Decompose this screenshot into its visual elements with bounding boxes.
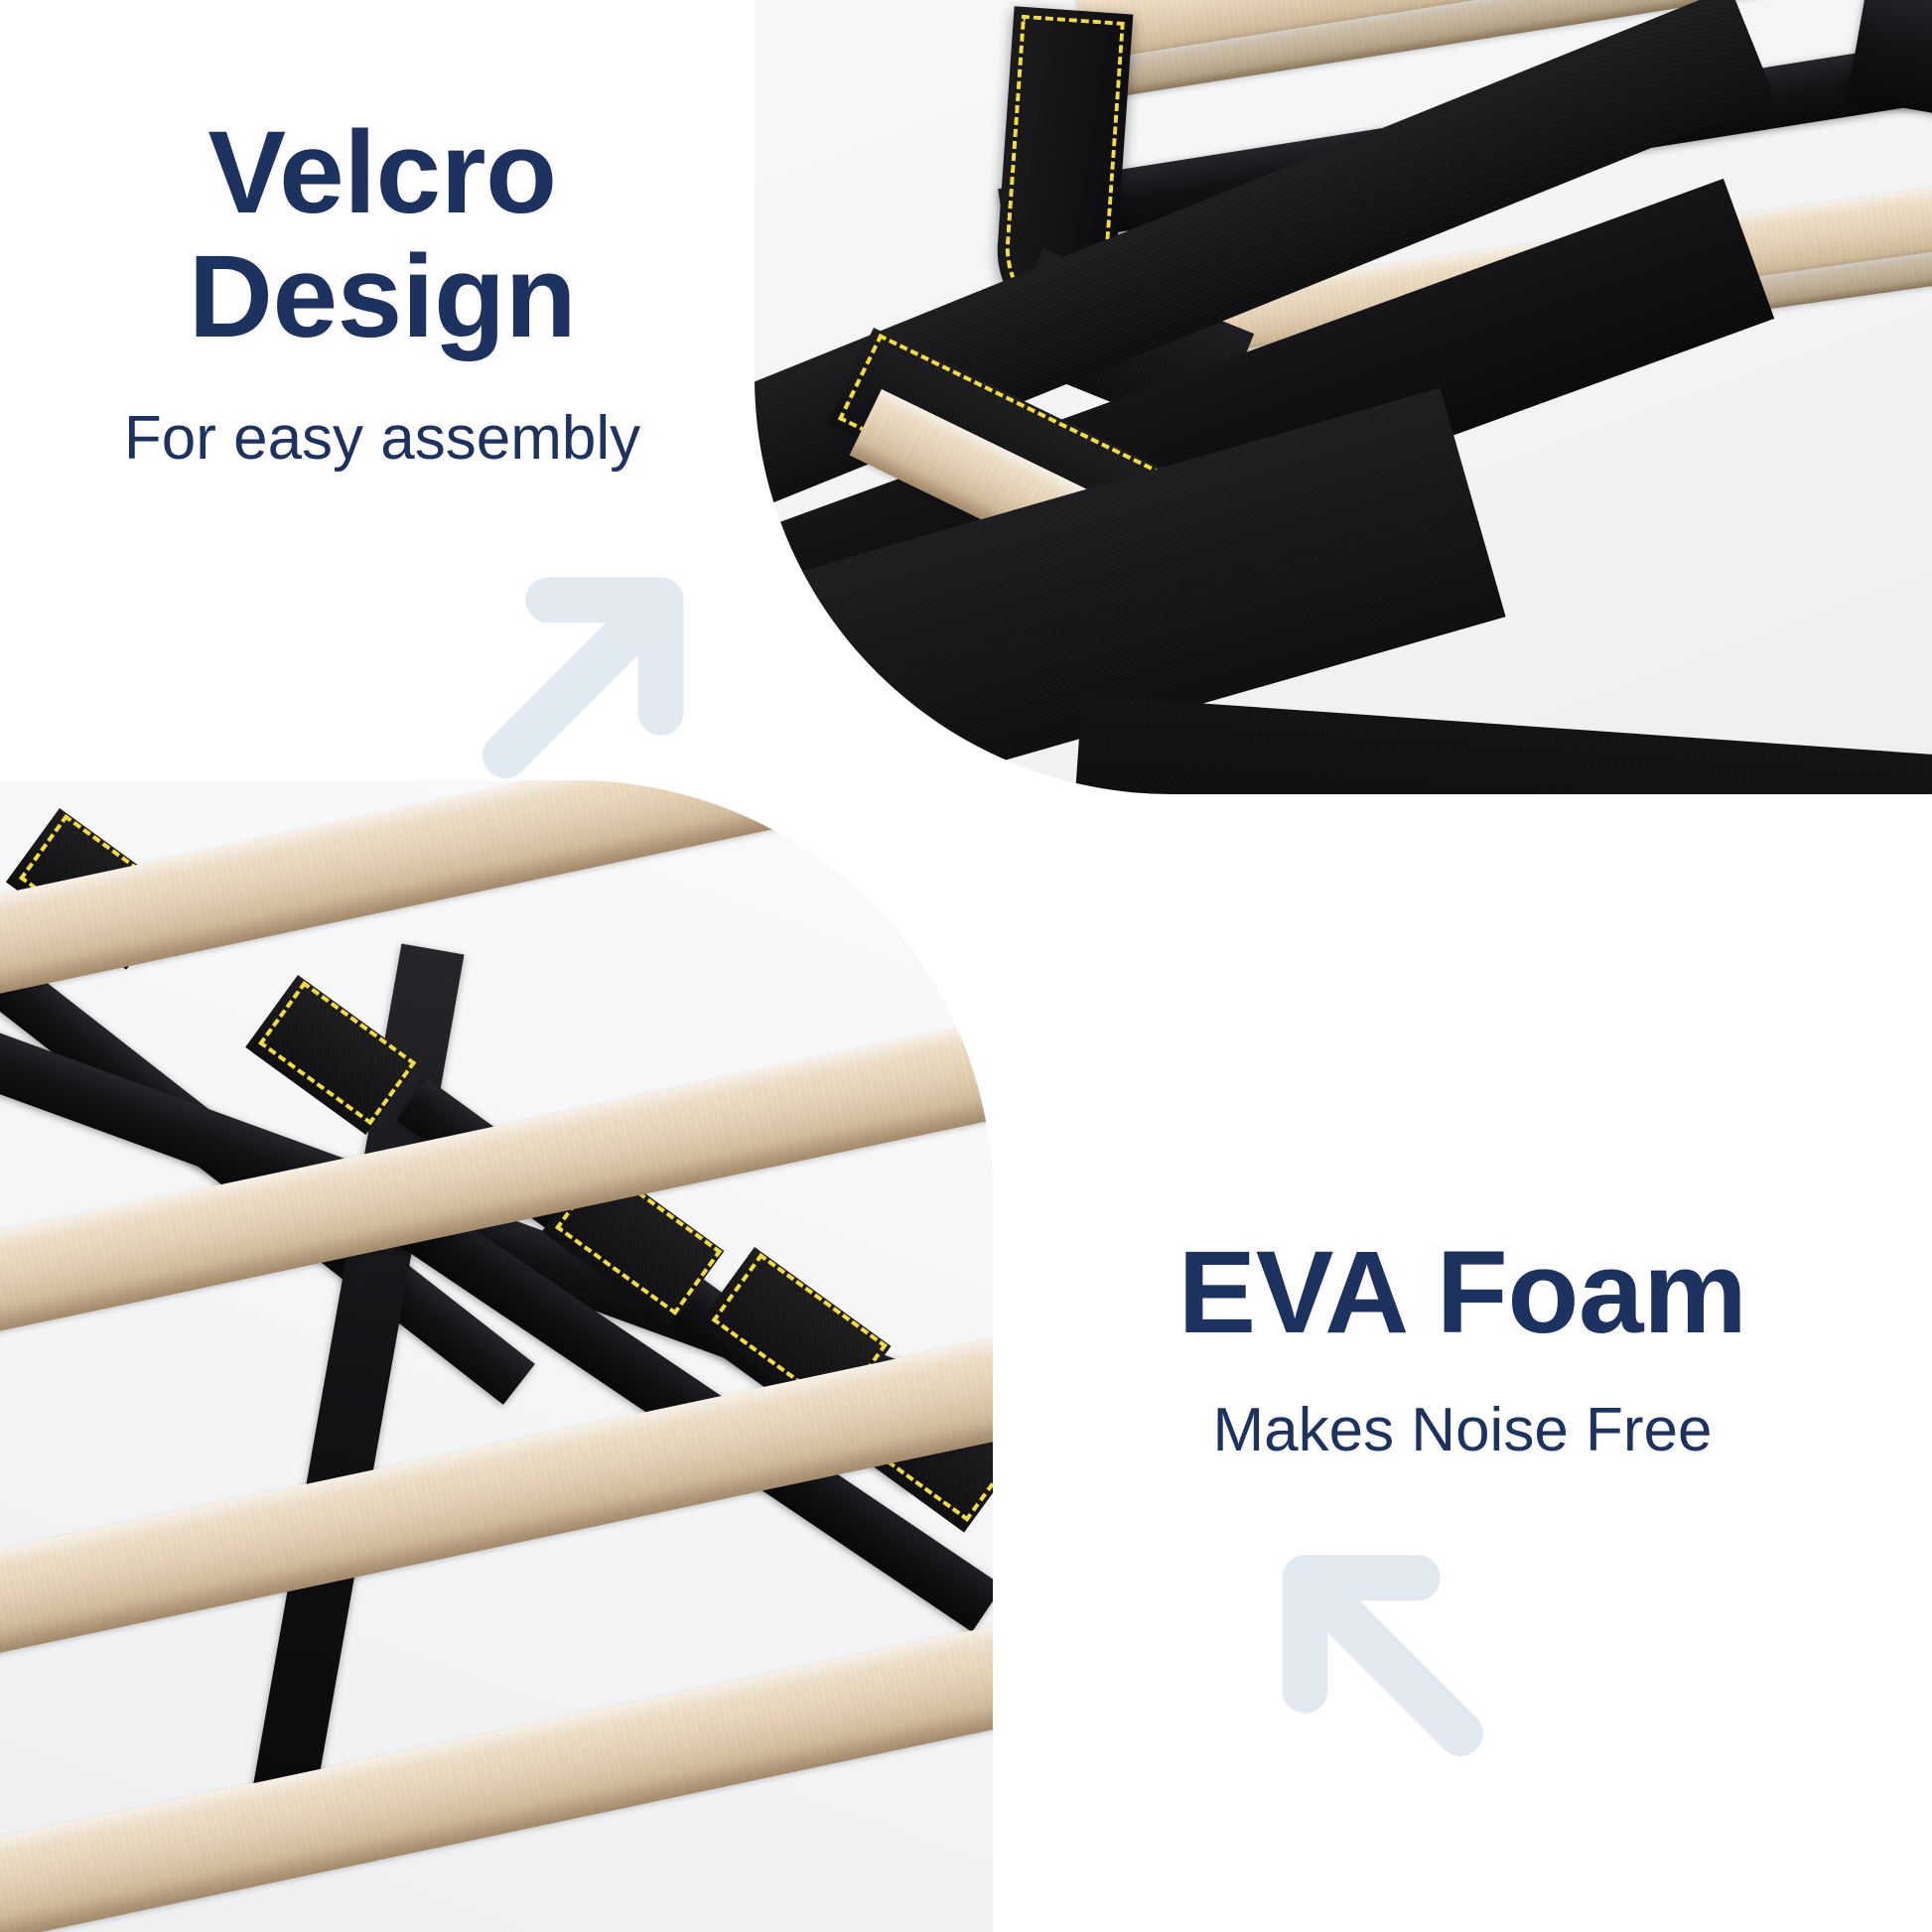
infographic-canvas: Velcro Design For easy assembly EVA Foam… [0, 0, 1932, 1932]
eva-foam-headline: EVA Foam [993, 1231, 1932, 1355]
velcro-headline-line1: Velcro [0, 111, 764, 235]
arrow-up-right-icon [452, 541, 720, 809]
eva-foam-subline: Makes Noise Free [993, 1395, 1932, 1465]
velcro-photo-panel [755, 0, 1932, 794]
velcro-subline: For easy assembly [0, 403, 764, 474]
eva-foam-photo-panel [0, 780, 993, 1932]
arrow-up-left-icon [1246, 1519, 1514, 1787]
velcro-scene [755, 0, 1932, 794]
velcro-headline-line2: Design [0, 235, 764, 359]
eva-foam-text-block: EVA Foam Makes Noise Free [993, 1231, 1932, 1465]
eva-foam-scene [0, 780, 993, 1932]
velcro-text-block: Velcro Design For easy assembly [0, 111, 764, 474]
